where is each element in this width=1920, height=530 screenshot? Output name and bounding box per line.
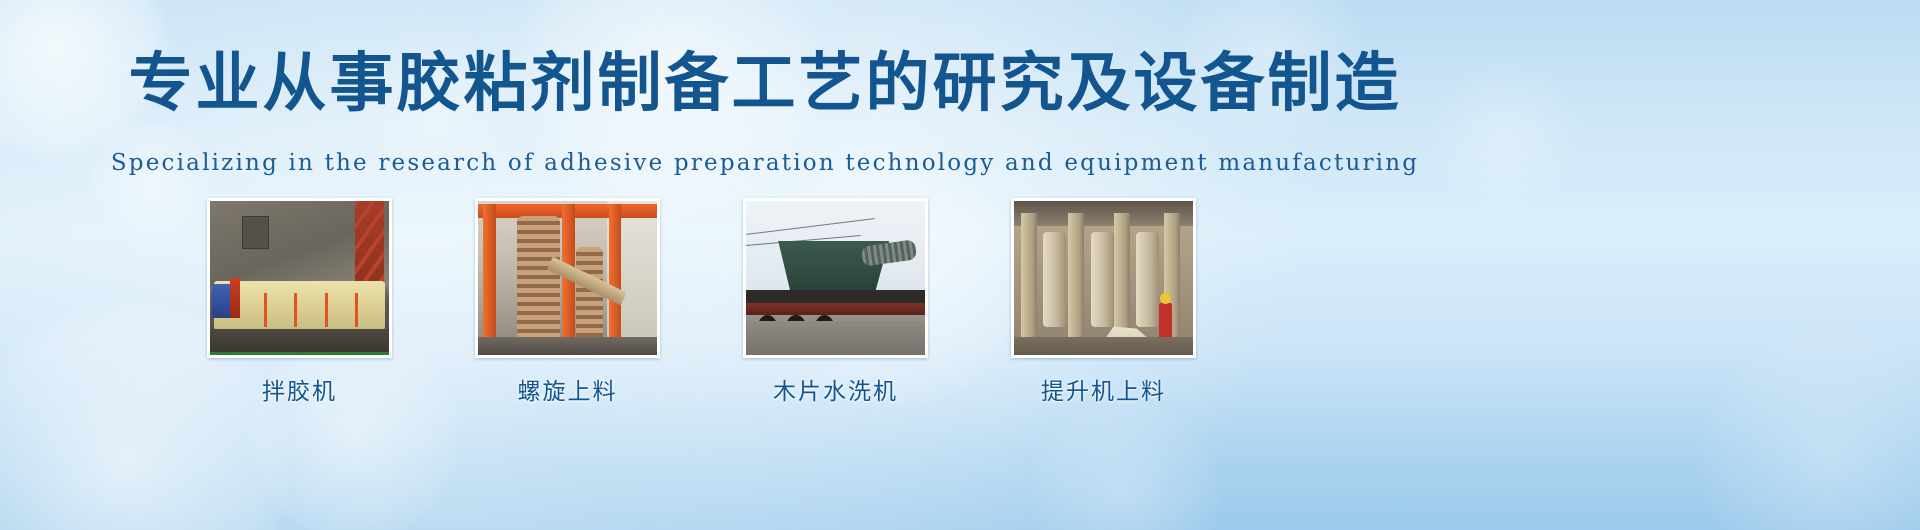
bokeh-circle [1700,330,1920,530]
thumbnail-frame[interactable] [1011,198,1196,358]
banner-subheadline: Specializing in the research of adhesive… [0,150,1530,176]
glue-mixer-photo [210,201,389,355]
thumbnail-caption: 螺旋上料 [475,372,660,406]
banner-headline: 专业从事胶粘剂制备工艺的研究及设备制造 [0,52,1530,116]
promo-banner: 专业从事胶粘剂制备工艺的研究及设备制造 Specializing in the … [0,0,1920,530]
elevator-feeding-photo [1014,201,1193,355]
wood-chip-washer-photo [746,201,925,355]
thumbnail-item[interactable]: 木片水洗机 [743,198,928,406]
process-thumbnail-strip: 拌胶机 螺旋上料 [0,198,1530,438]
thumbnail-item[interactable]: 提升机上料 [1011,198,1196,406]
thumbnail-caption: 拌胶机 [207,372,392,406]
thumbnail-frame[interactable] [743,198,928,358]
thumbnail-frame[interactable] [207,198,392,358]
thumbnail-caption: 提升机上料 [1011,372,1196,406]
thumbnail-frame[interactable] [475,198,660,358]
thumbnail-caption: 木片水洗机 [743,372,928,406]
thumbnail-item[interactable]: 螺旋上料 [475,198,660,406]
spiral-feeding-photo [478,201,657,355]
thumbnail-item[interactable]: 拌胶机 [207,198,392,406]
